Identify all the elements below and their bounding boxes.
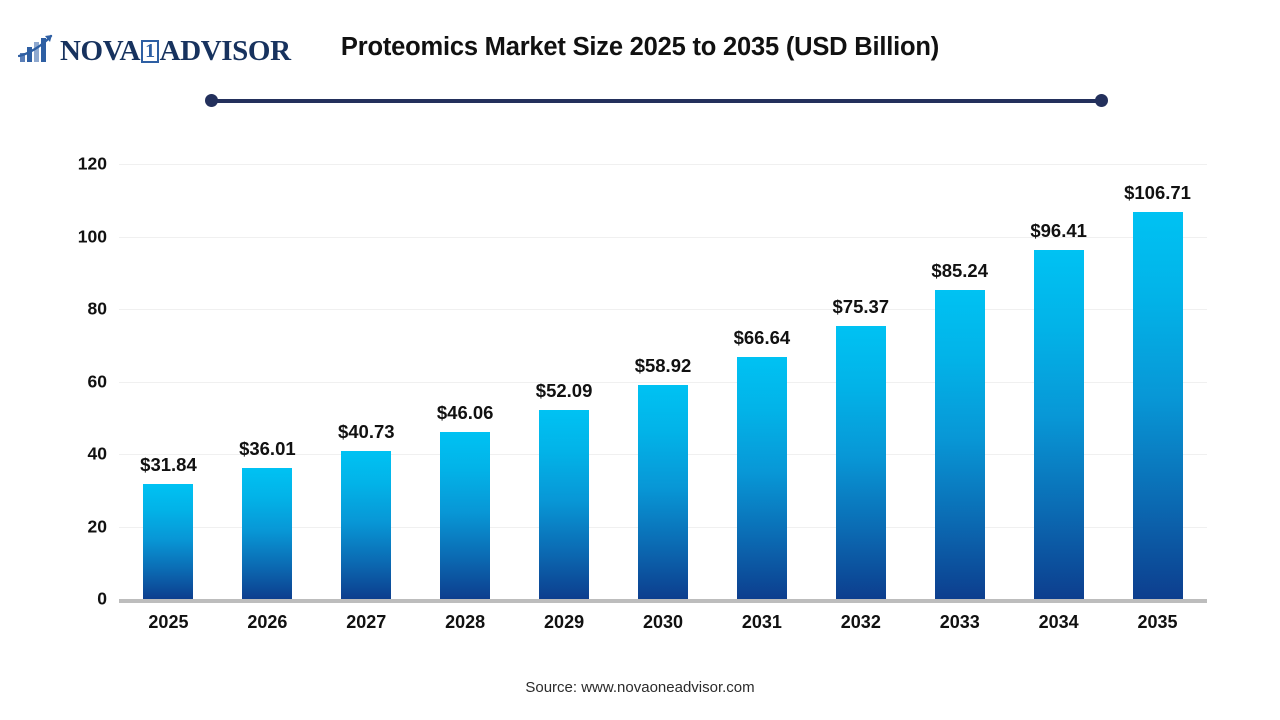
bar-value-label: $106.71 bbox=[1124, 182, 1191, 204]
bar-value-label: $31.84 bbox=[140, 454, 197, 476]
bar[interactable] bbox=[935, 290, 985, 599]
bar[interactable] bbox=[539, 410, 589, 599]
bar-value-label: $46.06 bbox=[437, 402, 494, 424]
bar-slot[interactable]: $58.92 bbox=[614, 164, 713, 599]
x-tick-label: 2025 bbox=[119, 612, 218, 633]
x-tick-label: 2033 bbox=[910, 612, 1009, 633]
bar[interactable] bbox=[737, 357, 787, 599]
bars-layer: $31.84$36.01$40.73$46.06$52.09$58.92$66.… bbox=[119, 164, 1207, 599]
bar[interactable] bbox=[1133, 212, 1183, 599]
bar-slot[interactable]: $96.41 bbox=[1009, 164, 1108, 599]
bar-value-label: $96.41 bbox=[1030, 220, 1087, 242]
x-tick-label: 2028 bbox=[416, 612, 515, 633]
bar-slot[interactable]: $106.71 bbox=[1108, 164, 1207, 599]
y-tick-label: 80 bbox=[47, 299, 107, 320]
bar-slot[interactable]: $40.73 bbox=[317, 164, 416, 599]
y-tick-label: 40 bbox=[47, 444, 107, 465]
x-tick-label: 2030 bbox=[614, 612, 713, 633]
bar-value-label: $36.01 bbox=[239, 438, 296, 460]
y-tick-label: 20 bbox=[47, 516, 107, 537]
x-tick-label: 2034 bbox=[1009, 612, 1108, 633]
divider-dot-right bbox=[1095, 94, 1108, 107]
y-tick-label: 120 bbox=[47, 154, 107, 175]
x-tick-label: 2026 bbox=[218, 612, 317, 633]
x-tick-label: 2027 bbox=[317, 612, 416, 633]
bar-value-label: $66.64 bbox=[734, 327, 791, 349]
bar-value-label: $40.73 bbox=[338, 421, 395, 443]
x-tick-label: 2029 bbox=[515, 612, 614, 633]
bar-value-label: $52.09 bbox=[536, 380, 593, 402]
bar[interactable] bbox=[1034, 250, 1084, 599]
bar-slot[interactable]: $75.37 bbox=[811, 164, 910, 599]
y-axis: 020406080100120 bbox=[42, 164, 107, 599]
bar[interactable] bbox=[440, 432, 490, 599]
chart-title: Proteomics Market Size 2025 to 2035 (USD… bbox=[0, 33, 1280, 62]
bar[interactable] bbox=[143, 484, 193, 599]
bar-value-label: $75.37 bbox=[833, 296, 890, 318]
divider-line bbox=[209, 99, 1104, 103]
y-tick-label: 100 bbox=[47, 226, 107, 247]
bar[interactable] bbox=[341, 451, 391, 599]
bar-value-label: $58.92 bbox=[635, 355, 692, 377]
x-tick-label: 2032 bbox=[811, 612, 910, 633]
title-divider bbox=[205, 94, 1108, 108]
bar-slot[interactable]: $52.09 bbox=[515, 164, 614, 599]
bar[interactable] bbox=[242, 468, 292, 599]
bar-slot[interactable]: $85.24 bbox=[910, 164, 1009, 599]
bar-slot[interactable]: $31.84 bbox=[119, 164, 218, 599]
bar[interactable] bbox=[638, 385, 688, 599]
x-tick-label: 2035 bbox=[1108, 612, 1207, 633]
chart-container: NOVA1ADVISOR Proteomics Market Size 2025… bbox=[0, 0, 1280, 720]
y-tick-label: 0 bbox=[47, 589, 107, 610]
x-axis-baseline bbox=[119, 599, 1207, 603]
source-note: Source: www.novaoneadvisor.com bbox=[0, 679, 1280, 696]
bar-slot[interactable]: $36.01 bbox=[218, 164, 317, 599]
bar-value-label: $85.24 bbox=[931, 260, 988, 282]
y-tick-label: 60 bbox=[47, 371, 107, 392]
bar[interactable] bbox=[836, 326, 886, 599]
bar-slot[interactable]: $66.64 bbox=[712, 164, 811, 599]
bar-slot[interactable]: $46.06 bbox=[416, 164, 515, 599]
x-tick-label: 2031 bbox=[712, 612, 811, 633]
